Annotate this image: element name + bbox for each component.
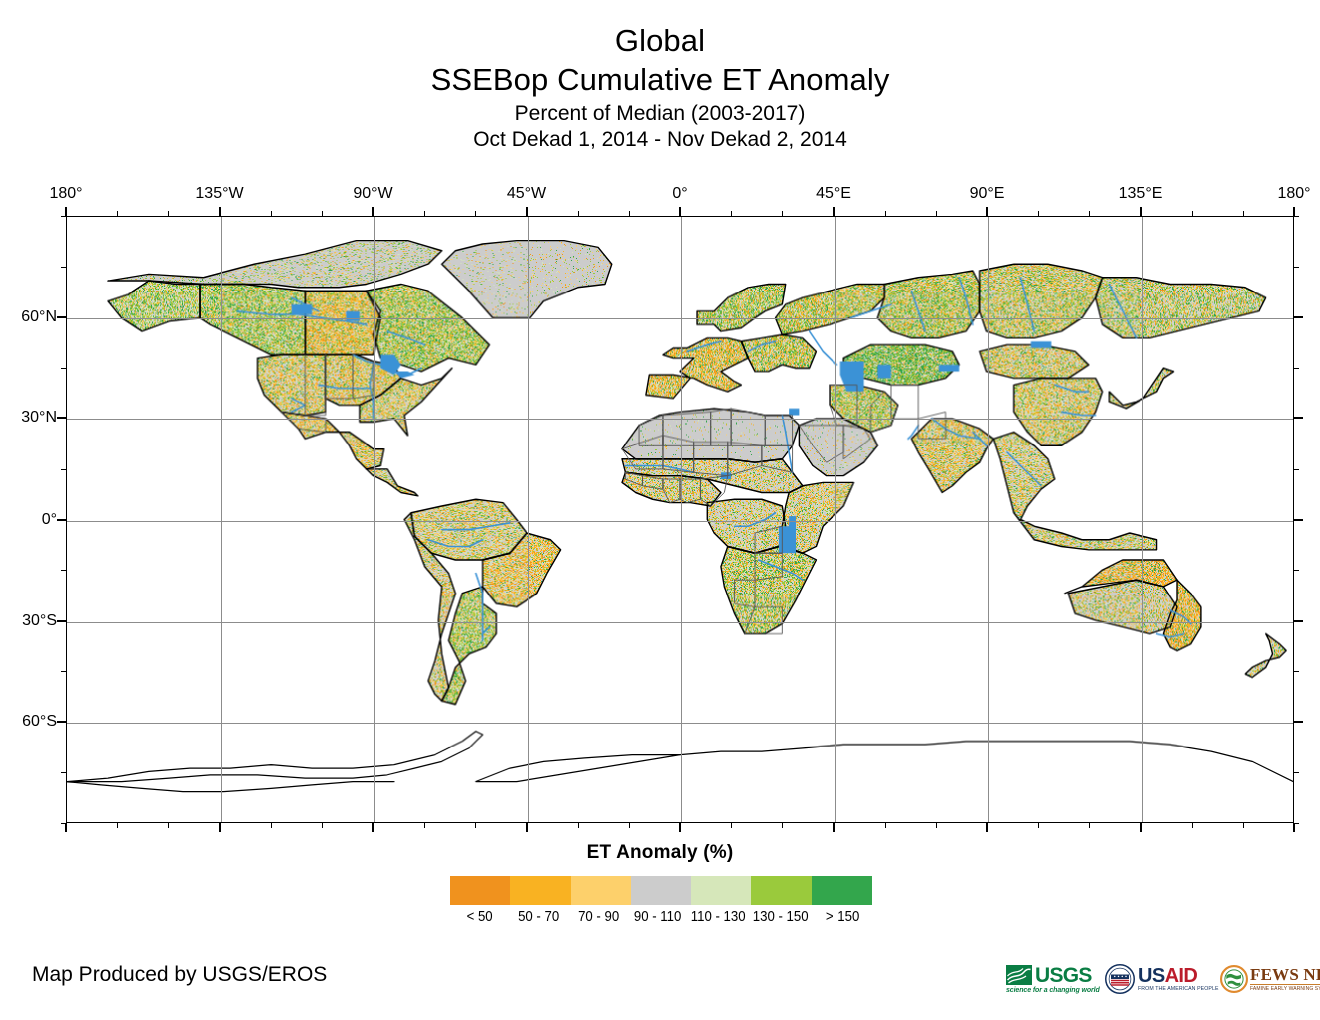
longitude-label: 135°W: [195, 185, 243, 203]
footer-credit: Map Produced by USGS/EROS: [32, 962, 327, 988]
tick-lat-left: [61, 772, 66, 773]
tick-lon-bottom: [219, 823, 221, 832]
longitude-label: 135°E: [1119, 185, 1163, 203]
tick-lon-top: [526, 207, 528, 216]
legend-label-row: < 5050 - 7070 - 9090 - 110110 - 130130 -…: [450, 907, 872, 929]
legend-swatch-6: [812, 876, 872, 905]
usgs-wave-icon: [1006, 965, 1032, 985]
legend-label-6: > 150: [816, 907, 868, 929]
tick-lon-bottom: [1089, 823, 1090, 828]
tick-lat-left: [61, 216, 66, 217]
title-block: Global SSEBop Cumulative ET Anomaly Perc…: [0, 22, 1320, 153]
latitude-label: 30°S: [3, 612, 57, 630]
tick-lon-bottom: [629, 823, 630, 828]
tick-lon-bottom: [578, 823, 579, 828]
tick-lon-top: [679, 207, 681, 216]
legend-label-4: 110 - 130: [691, 907, 746, 929]
tick-lon-bottom: [1038, 823, 1039, 828]
longitude-label: 180°: [1277, 185, 1310, 203]
tick-lon-bottom: [679, 823, 681, 832]
page-title-line-2: SSEBop Cumulative ET Anomaly: [0, 60, 1320, 100]
tick-lon-top: [1192, 211, 1193, 216]
tick-lon-top: [885, 211, 886, 216]
world-map-raster[interactable]: [67, 217, 1293, 822]
tick-lat-left: [57, 316, 66, 318]
tick-lat-left: [61, 368, 66, 369]
tick-lon-top: [1140, 207, 1142, 216]
usaid-wordmark-aid: AID: [1165, 965, 1198, 987]
fews-net-logo[interactable]: FEWS NET FAMINE EARLY WARNING SYSTEMS NE…: [1220, 965, 1320, 993]
longitude-label: 90°E: [970, 185, 1005, 203]
fews-net-rule: [1250, 984, 1320, 986]
tick-lon-bottom: [424, 823, 425, 828]
latitude-label: 60°S: [3, 713, 57, 731]
legend-label-3: 90 - 110: [631, 907, 683, 929]
tick-lon-top: [833, 207, 835, 216]
legend-swatch-1: [510, 876, 570, 905]
tick-lon-bottom: [1140, 823, 1142, 832]
tick-lon-top: [731, 211, 732, 216]
fews-net-wordmark: FEWS NET: [1250, 966, 1320, 984]
tick-lat-right: [1294, 823, 1299, 824]
tick-lat-left: [61, 469, 66, 470]
gridline-lat: [67, 622, 1293, 623]
tick-lon-top: [372, 207, 374, 216]
gridline-lon: [988, 217, 989, 822]
legend-title: ET Anomaly (%): [0, 842, 1320, 864]
gridline-lon: [221, 217, 222, 822]
longitude-label: 90°W: [353, 185, 392, 203]
legend-color-bar: [450, 876, 872, 905]
tick-lon-bottom: [1243, 823, 1244, 828]
gridline-lon: [528, 217, 529, 822]
gridline-lon: [835, 217, 836, 822]
tick-lat-right: [1294, 417, 1303, 419]
tick-lat-left: [61, 671, 66, 672]
tick-lon-top: [65, 207, 67, 216]
tick-lon-bottom: [475, 823, 476, 828]
gridline-lon: [681, 217, 682, 822]
gridline-lat: [67, 419, 1293, 420]
tick-lat-right: [1294, 570, 1299, 571]
usaid-tagline: FROM THE AMERICAN PEOPLE: [1138, 986, 1219, 992]
tick-lon-top: [475, 211, 476, 216]
tick-lat-left: [57, 620, 66, 622]
tick-lon-bottom: [885, 823, 886, 828]
tick-lat-right: [1294, 519, 1303, 521]
tick-lon-top: [1293, 207, 1295, 216]
tick-lon-top: [322, 211, 323, 216]
tick-lon-top: [117, 211, 118, 216]
tick-lon-top: [168, 211, 169, 216]
legend-swatch-5: [751, 876, 811, 905]
gridline-lon: [374, 217, 375, 822]
tick-lon-top: [219, 207, 221, 216]
usaid-seal-icon: [1105, 964, 1135, 994]
tick-lon-bottom: [65, 823, 67, 832]
tick-lon-bottom: [271, 823, 272, 828]
tick-lon-top: [1038, 211, 1039, 216]
tick-lon-bottom: [1192, 823, 1193, 828]
tick-lat-right: [1294, 316, 1303, 318]
tick-lon-top: [424, 211, 425, 216]
fews-globe-icon: [1220, 965, 1248, 993]
tick-lat-left: [57, 417, 66, 419]
latitude-label: 60°N: [3, 308, 57, 326]
tick-lon-bottom: [117, 823, 118, 828]
map-frame[interactable]: [66, 216, 1294, 823]
usgs-tagline: science for a changing world: [1006, 987, 1098, 994]
tick-lon-bottom: [833, 823, 835, 832]
tick-lon-bottom: [526, 823, 528, 832]
tick-lat-right: [1294, 267, 1299, 268]
tick-lon-top: [629, 211, 630, 216]
legend-swatch-3: [631, 876, 691, 905]
page-title-line-1: Global: [0, 22, 1320, 60]
tick-lat-left: [61, 267, 66, 268]
legend-swatch-0: [450, 876, 510, 905]
gridline-lon: [1142, 217, 1143, 822]
tick-lat-right: [1294, 772, 1299, 773]
tick-lon-top: [986, 207, 988, 216]
tick-lon-bottom: [986, 823, 988, 832]
tick-lat-right: [1294, 721, 1303, 723]
tick-lon-bottom: [372, 823, 374, 832]
gridline-lat: [67, 318, 1293, 319]
tick-lon-bottom: [1293, 823, 1295, 832]
tick-lon-bottom: [782, 823, 783, 828]
tick-lon-top: [578, 211, 579, 216]
tick-lon-bottom: [936, 823, 937, 828]
page-subtitle-daterange: Oct Dekad 1, 2014 - Nov Dekad 2, 2014: [0, 127, 1320, 153]
longitude-label: 45°E: [816, 185, 851, 203]
tick-lat-left: [61, 570, 66, 571]
gridline-lat: [67, 521, 1293, 522]
tick-lat-left: [57, 721, 66, 723]
tick-lon-top: [1089, 211, 1090, 216]
tick-lat-right: [1294, 216, 1299, 217]
agency-logo-row: USGS science for a changing world USAID …: [1006, 957, 1298, 1001]
tick-lon-top: [782, 211, 783, 216]
tick-lat-right: [1294, 671, 1299, 672]
longitude-label: 0°: [672, 185, 687, 203]
gridline-lat: [67, 723, 1293, 724]
usaid-logo[interactable]: USAID FROM THE AMERICAN PEOPLE: [1105, 964, 1213, 994]
tick-lon-bottom: [322, 823, 323, 828]
legend-label-5: 130 - 150: [753, 907, 809, 929]
longitude-label: 180°: [49, 185, 82, 203]
legend-swatch-2: [571, 876, 631, 905]
tick-lat-right: [1294, 620, 1303, 622]
legend-label-2: 70 - 90: [572, 907, 624, 929]
tick-lon-top: [936, 211, 937, 216]
tick-lat-right: [1294, 368, 1299, 369]
tick-lat-left: [61, 823, 66, 824]
longitude-label: 45°W: [507, 185, 546, 203]
legend-label-0: < 50: [454, 907, 506, 929]
tick-lat-left: [57, 519, 66, 521]
fews-net-tagline: FAMINE EARLY WARNING SYSTEMS NETWORK: [1250, 986, 1320, 992]
legend-swatch-4: [691, 876, 751, 905]
usgs-wordmark: USGS: [1035, 965, 1092, 986]
tick-lon-top: [1243, 211, 1244, 216]
usaid-wordmark-us: US: [1138, 965, 1165, 987]
tick-lon-bottom: [731, 823, 732, 828]
legend-label-1: 50 - 70: [513, 907, 565, 929]
tick-lat-right: [1294, 469, 1299, 470]
tick-lon-bottom: [168, 823, 169, 828]
tick-lon-top: [271, 211, 272, 216]
latitude-label: 0°: [3, 511, 57, 529]
page-subtitle-period: Percent of Median (2003-2017): [0, 100, 1320, 127]
usgs-logo[interactable]: USGS science for a changing world: [1006, 965, 1098, 994]
latitude-label: 30°N: [3, 409, 57, 427]
